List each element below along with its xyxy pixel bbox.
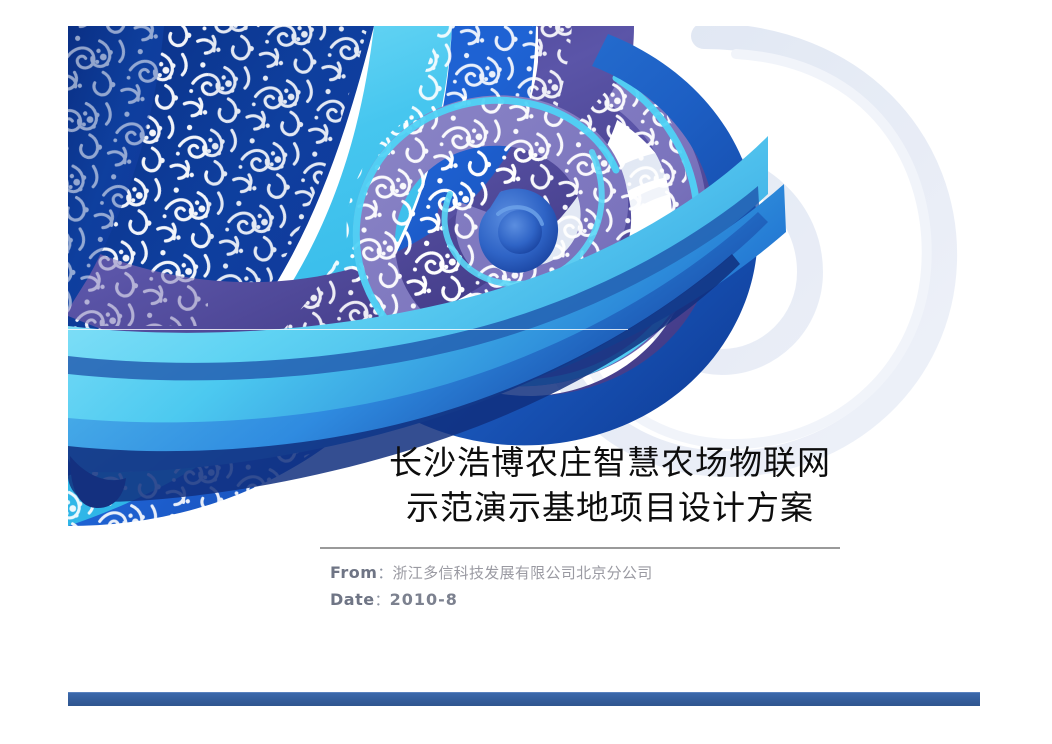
- corner-navy-sliver: [68, 26, 208, 326]
- spiral-core: [479, 189, 558, 273]
- watermark-spiral: [548, 36, 944, 464]
- from-label: From: [330, 563, 377, 582]
- lower-cyan-sweep: [68, 136, 786, 437]
- meta-row-date: Date：2010-8: [330, 587, 930, 614]
- blue-rim-arc: [326, 34, 758, 445]
- from-value: 浙江多信科技发展有限公司北京分公司: [392, 564, 652, 582]
- meta-row-from: From：浙江多信科技发展有限公司北京分公司: [330, 560, 930, 587]
- from-separator: ：: [377, 565, 392, 582]
- date-separator: ：: [375, 592, 390, 609]
- presentation-slide: 长沙浩博农庄智慧农场物联网 示范演示基地项目设计方案 From：浙江多信科技发展…: [0, 0, 1052, 744]
- slide-title: 长沙浩博农庄智慧农场物联网 示范演示基地项目设计方案: [300, 440, 920, 530]
- date-label: Date: [330, 590, 375, 609]
- cyan-ring-highlight: [356, 78, 697, 383]
- title-line-1: 长沙浩博农庄智慧农场物联网: [300, 440, 920, 485]
- bottom-accent-bar: [68, 692, 980, 706]
- slide-meta: From：浙江多信科技发展有限公司北京分公司 Date：2010-8: [330, 560, 930, 614]
- date-value: 2010-8: [390, 590, 458, 609]
- title-line-2: 示范演示基地项目设计方案: [300, 485, 920, 530]
- title-underline-rule: [320, 547, 840, 549]
- artwork-divider-line: [68, 329, 628, 330]
